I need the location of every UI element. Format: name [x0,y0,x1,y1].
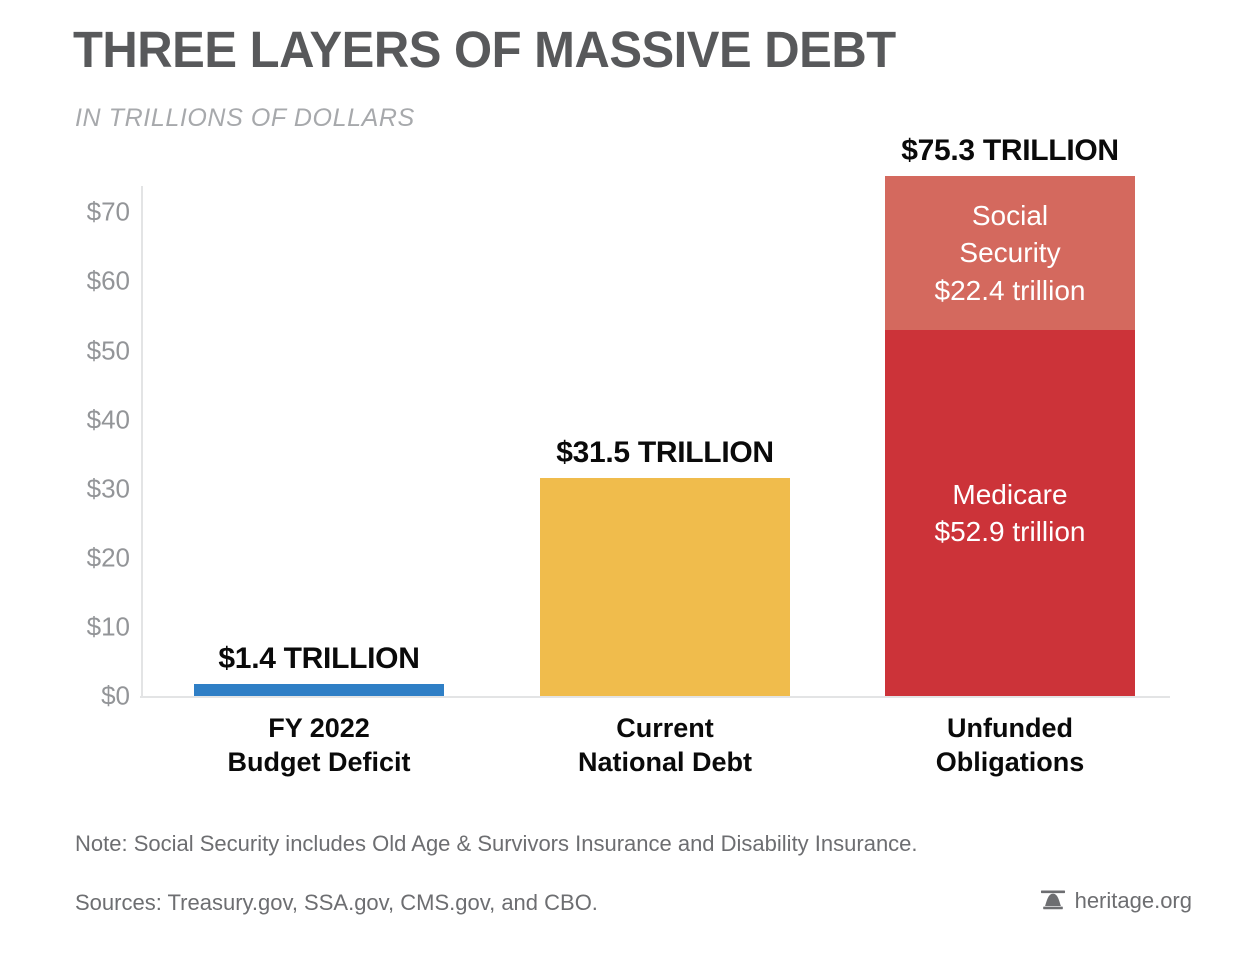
x-axis-baseline [140,696,1170,698]
footnote-sources: Sources: Treasury.gov, SSA.gov, CMS.gov,… [75,890,598,916]
y-axis-tick-30: $30 [2,473,130,504]
x-axis-category-label-1: FY 2022 Budget Deficit [124,712,514,780]
y-axis-tick-60: $60 [2,266,130,297]
bar-total-label-1: $1.4 TRILLION [134,642,504,676]
bar-segment-label: Medicare $52.9 trillion [885,476,1135,550]
liberty-bell-icon [1040,889,1066,913]
y-axis-tick-40: $40 [2,404,130,435]
bar-segment-medicare[interactable]: Medicare $52.9 trillion [885,330,1135,696]
chart-container: THREE LAYERS OF MASSIVE DEBT IN TRILLION… [0,0,1242,958]
y-axis-tick-70: $70 [2,197,130,228]
bar-total-label-3: $75.3 TRILLION [825,134,1195,168]
bar-segment-label: Social Security $22.4 trillion [885,197,1135,309]
x-axis-category-label-2: Current National Debt [470,712,860,780]
chart-title: THREE LAYERS OF MASSIVE DEBT [73,22,896,78]
x-axis-category-label-3: Unfunded Obligations [815,712,1205,780]
bar-1[interactable] [194,684,444,696]
y-axis-tick-labels: $70$60$50$40$30$20$10$0 [0,0,130,958]
bar-segment-current-national-debt[interactable] [540,478,790,696]
brand-attribution: heritage.org [1040,888,1192,914]
y-axis-tick-20: $20 [2,542,130,573]
bar-total-label-2: $31.5 TRILLION [480,436,850,470]
bar-segment-fy-2022-budget-deficit[interactable] [194,684,444,696]
y-axis-tick-10: $10 [2,611,130,642]
brand-label: heritage.org [1075,888,1192,914]
y-axis-tick-50: $50 [2,335,130,366]
y-axis-line [141,186,143,697]
bar-3[interactable]: Social Security $22.4 trillionMedicare $… [885,176,1135,696]
bar-segment-social-security[interactable]: Social Security $22.4 trillion [885,176,1135,331]
y-axis-tick-0: $0 [2,681,130,712]
footnote-note: Note: Social Security includes Old Age &… [75,831,918,857]
bar-2[interactable] [540,478,790,696]
